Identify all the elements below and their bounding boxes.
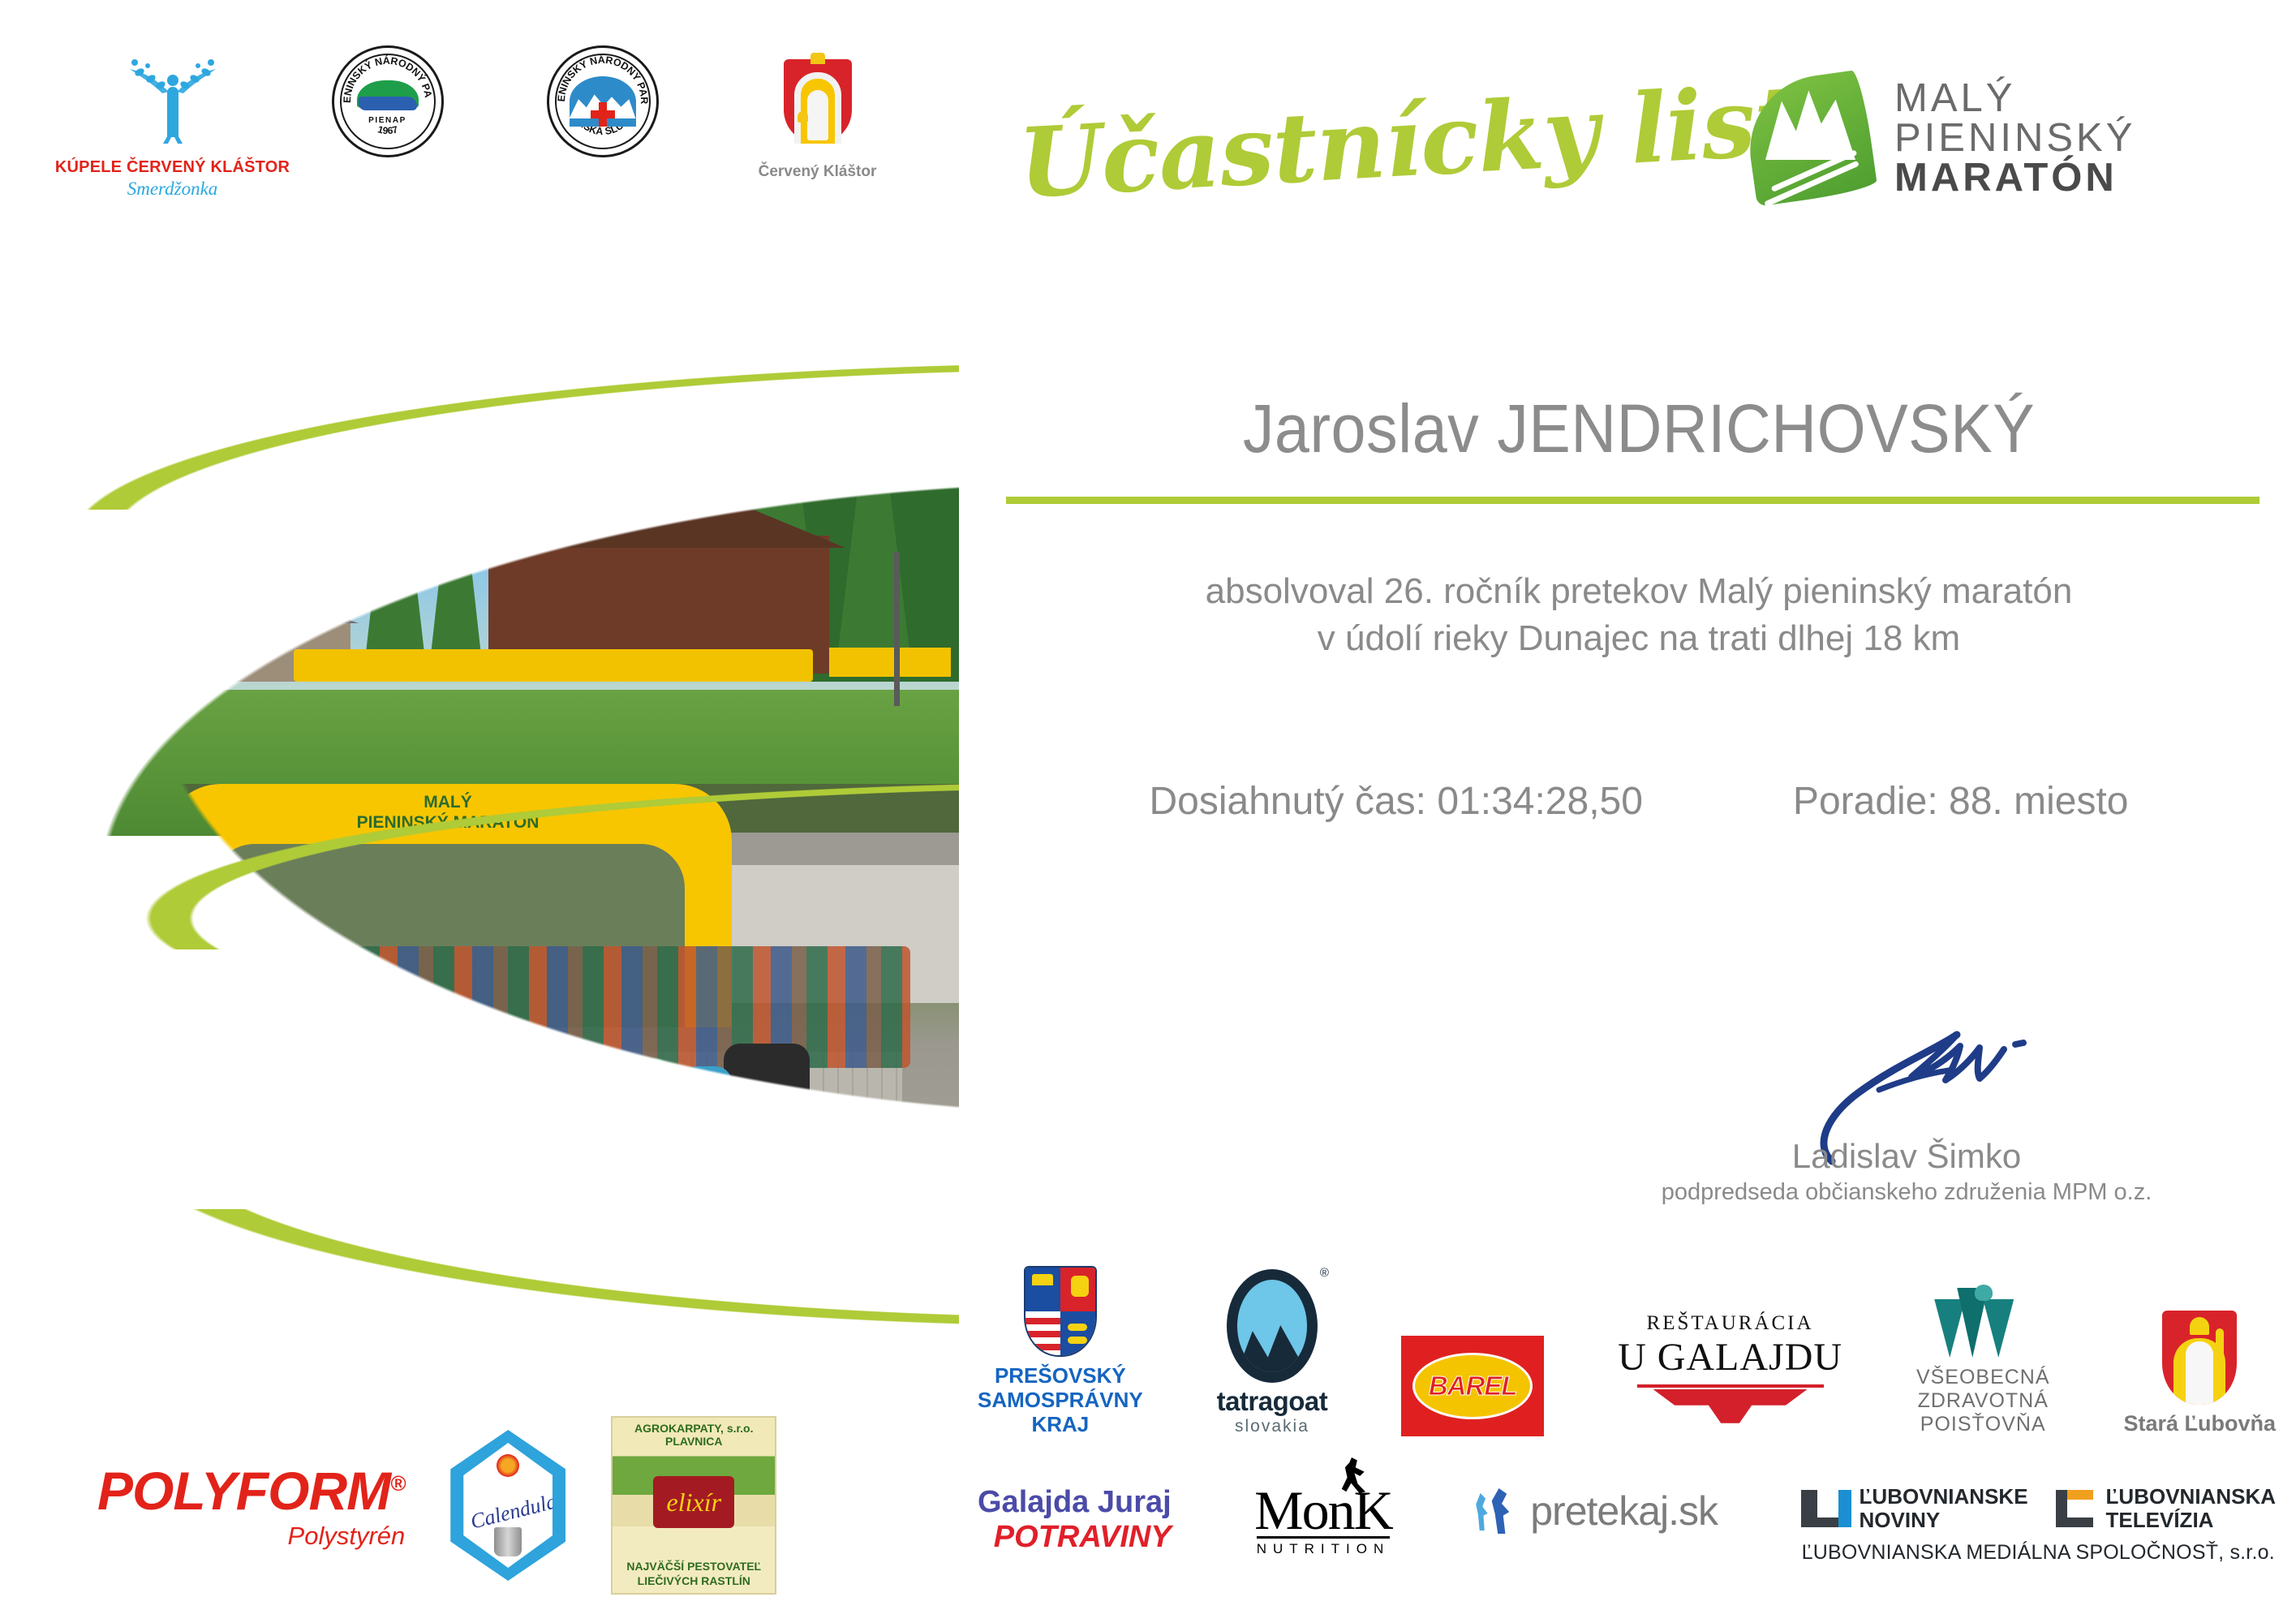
partner-kupele-cerveny-klastor: KÚPELE ČERVENÝ KLÁŠTOR Smerdžonka <box>65 45 280 200</box>
u-galajdu-ornament-icon <box>1653 1389 1808 1436</box>
vzp-line-1: VŠEOBECNÁ <box>1916 1366 2050 1389</box>
agrokarpaty-badge: elixír <box>653 1476 734 1528</box>
lt-line-2: TELEVÍZIA <box>2106 1509 2276 1532</box>
sponsors-row-1: PREŠOVSKÝ SAMOSPRÁVNY KRAJ ® tatragoat s… <box>978 1250 2276 1436</box>
sponsor-stara-lubovna: Stará Ľubovňa <box>2123 1311 2276 1436</box>
signatory-role: podpredseda občianskeho združenia MPM o.… <box>1574 1179 2239 1206</box>
kupele-name: KÚPELE ČERVENÝ KLÁŠTOR <box>55 158 290 177</box>
agrokarpaty-top: AGROKARPATY, s.r.o. PLAVNICA <box>613 1422 775 1448</box>
monk-sub: NUTRITION <box>1257 1536 1391 1557</box>
u-galajdu-name: U GALAJDU <box>1618 1335 1842 1380</box>
runner-bib: 107 <box>683 1149 735 1185</box>
polyform-sub: Polystyrén <box>288 1522 406 1551</box>
placement: Poradie: 88. miesto <box>1793 779 2129 824</box>
sponsor-vzp: VŠEOBECNÁ ZDRAVOTNÁ POISŤOVŇA <box>1916 1288 2050 1436</box>
photo-column: MALÝ PIENINSKÝ MARATÓN 209 74 249 92 147… <box>50 268 959 1404</box>
certificate-body: absolvoval 26. ročník pretekov Malý pien… <box>1018 568 2259 662</box>
signatory-name: Ladislav Šimko <box>1574 1137 2239 1176</box>
horska-sluzba-emblem-icon: PIENINSKÝ NÁRODNÝ PARK HORSKÁ SLUŽBA <box>547 45 659 158</box>
sponsor-pretekaj-sk: pretekaj.sk <box>1475 1485 1718 1537</box>
pienap-inner-label: PIENAP <box>357 116 419 125</box>
monk-name: MonK <box>1254 1485 1392 1536</box>
sponsor-presovsky-kraj: PREŠOVSKÝ SAMOSPRÁVNY KRAJ <box>978 1266 1143 1436</box>
brand-line-3: MARATÓN <box>1894 158 2135 198</box>
vzp-line-2: ZDRAVOTNÁ <box>1916 1389 2050 1413</box>
barel-name: BAREL <box>1429 1371 1517 1401</box>
lubovnianska-televizia-icon <box>2056 1490 2098 1527</box>
tatragoat-sub: slovakia <box>1235 1417 1309 1436</box>
sponsor-polyform: POLYFORM® Polystyrén <box>97 1460 405 1551</box>
tatragoat-name: tatragoat <box>1217 1386 1328 1417</box>
psk-line-2: SAMOSPRÁVNY <box>978 1388 1143 1412</box>
galajda-line-1: Galajda Juraj <box>978 1485 1172 1520</box>
partner-pienap: PIENINSKÝ NÁRODNÝ PARK 1967 PIENAP <box>280 45 495 158</box>
body-line-1: absolvoval 26. ročník pretekov Malý pien… <box>1018 568 2259 615</box>
psk-line-1: PREŠOVSKÝ <box>978 1363 1143 1388</box>
sponsor-monk-nutrition: MonK NUTRITION <box>1254 1485 1392 1557</box>
lms-footer: ĽUBOVNIANSKA MEDIÁLNA SPOLOČNOSŤ, s.r.o. <box>1802 1541 2275 1565</box>
pretekaj-runners-icon <box>1475 1485 1519 1537</box>
galajda-line-2: POTRAVINY <box>994 1520 1172 1555</box>
vzp-icon <box>1934 1288 2032 1358</box>
sponsor-tatragoat: ® tatragoat slovakia <box>1217 1269 1328 1436</box>
ln-line-1: ĽUBOVNIANSKE <box>1860 1485 2028 1509</box>
runner-bib: 92 <box>417 1131 475 1170</box>
agrokarpaty-icon: AGROKARPATY, s.r.o. PLAVNICA elixír NAJV… <box>611 1416 776 1595</box>
kupele-subname: Smerdžonka <box>55 179 290 200</box>
psk-line-3: KRAJ <box>978 1412 1143 1436</box>
agrokarpaty-bottom-2: LIEČIVÝCH RASTLÍN <box>613 1573 775 1588</box>
partner-horska-sluzba: PIENINSKÝ NÁRODNÝ PARK HORSKÁ SLUŽBA <box>495 45 710 158</box>
cerveny-klastor-caption: Červený Kláštor <box>759 163 877 181</box>
signature-block: Ladislav Šimko podpredseda občianskeho z… <box>1574 1002 2239 1206</box>
sponsors-row-2: Galajda Juraj POTRAVINY MonK NUTRITION p… <box>978 1485 2276 1607</box>
pretekaj-name: pretekaj.sk <box>1530 1487 1718 1535</box>
tatragoat-icon: ® <box>1227 1269 1318 1383</box>
agrokarpaty-bottom-1: NAJVÄČŠÍ PESTOVATEĽ <box>613 1559 775 1573</box>
u-galajdu-top: REŠTAURÁCIA <box>1647 1312 1814 1335</box>
polyform-name: POLYFORM <box>97 1461 390 1521</box>
results-row: Dosiahnutý čas: 01:34:28,50 Poradie: 88.… <box>1018 779 2259 824</box>
body-line-2: v údolí rieky Dunajec na trati dlhej 18 … <box>1018 615 2259 662</box>
green-swoosh-bottom <box>50 1209 959 1404</box>
ln-line-2: NOVINY <box>1860 1509 2028 1532</box>
pienap-emblem-icon: PIENINSKÝ NÁRODNÝ PARK 1967 PIENAP <box>332 45 444 158</box>
accent-divider <box>1006 497 2259 504</box>
certificate-page: KÚPELE ČERVENÝ KLÁŠTOR Smerdžonka PIENIN… <box>0 0 2296 1623</box>
calendula-icon: Calendula <box>450 1430 565 1581</box>
stara-lubovna-caption: Stará Ľubovňa <box>2123 1411 2276 1436</box>
sponsor-galajda-potraviny: Galajda Juraj POTRAVINY <box>978 1485 1172 1555</box>
page-title: Účastnícky list <box>1016 63 1801 219</box>
svg-text:1967: 1967 <box>376 123 399 136</box>
sponsor-barel: BAREL <box>1401 1336 1544 1436</box>
lubovnianske-noviny-icon <box>1801 1490 1851 1527</box>
runner-bib: 249 <box>323 1151 388 1193</box>
barel-icon: BAREL <box>1401 1336 1544 1436</box>
brand-line-1: MALÝ <box>1894 79 2135 118</box>
event-brand-logo: MALÝ PIENINSKÝ MARATÓN <box>1748 77 2135 199</box>
presovsky-kraj-coat-of-arms-icon <box>1024 1266 1097 1357</box>
green-swoosh-top <box>50 268 959 510</box>
recipient-name: Jaroslav JENDRICHOVSKÝ <box>1068 390 2210 468</box>
polyform-reg: ® <box>390 1471 405 1496</box>
top-partner-logos: KÚPELE ČERVENÝ KLÁŠTOR Smerdžonka PIENIN… <box>65 45 925 231</box>
sponsor-agrokarpaty: AGROKARPATY, s.r.o. PLAVNICA elixír NAJV… <box>611 1416 776 1595</box>
green-swoosh-middle <box>50 755 959 949</box>
sponsor-calendula: Calendula <box>450 1430 565 1581</box>
sponsor-u-galajdu: REŠTAURÁCIA U GALAJDU <box>1618 1312 1842 1436</box>
partner-cerveny-klastor: Červený Kláštor <box>710 45 925 181</box>
mpm-mountain-leaf-icon <box>1748 77 1870 199</box>
stara-lubovna-coat-of-arms-icon <box>2162 1311 2237 1405</box>
brand-line-2: PIENINSKÝ <box>1894 118 2135 158</box>
sponsor-lubovnianska-medialna: ĽUBOVNIANSKE NOVINY ĽUBOVNIANSKA TELEVÍZ… <box>1801 1485 2276 1565</box>
finish-time: Dosiahnutý čas: 01:34:28,50 <box>1150 779 1643 824</box>
vzp-line-3: POISŤOVŇA <box>1916 1413 2050 1436</box>
kupele-cerveny-klastor-icon <box>112 45 234 158</box>
cerveny-klastor-coat-of-arms-icon <box>784 45 852 158</box>
sponsors-photo-row: POLYFORM® Polystyrén Calendula AGROKARPA… <box>97 1408 965 1603</box>
lt-line-1: ĽUBOVNIANSKA <box>2106 1485 2276 1509</box>
